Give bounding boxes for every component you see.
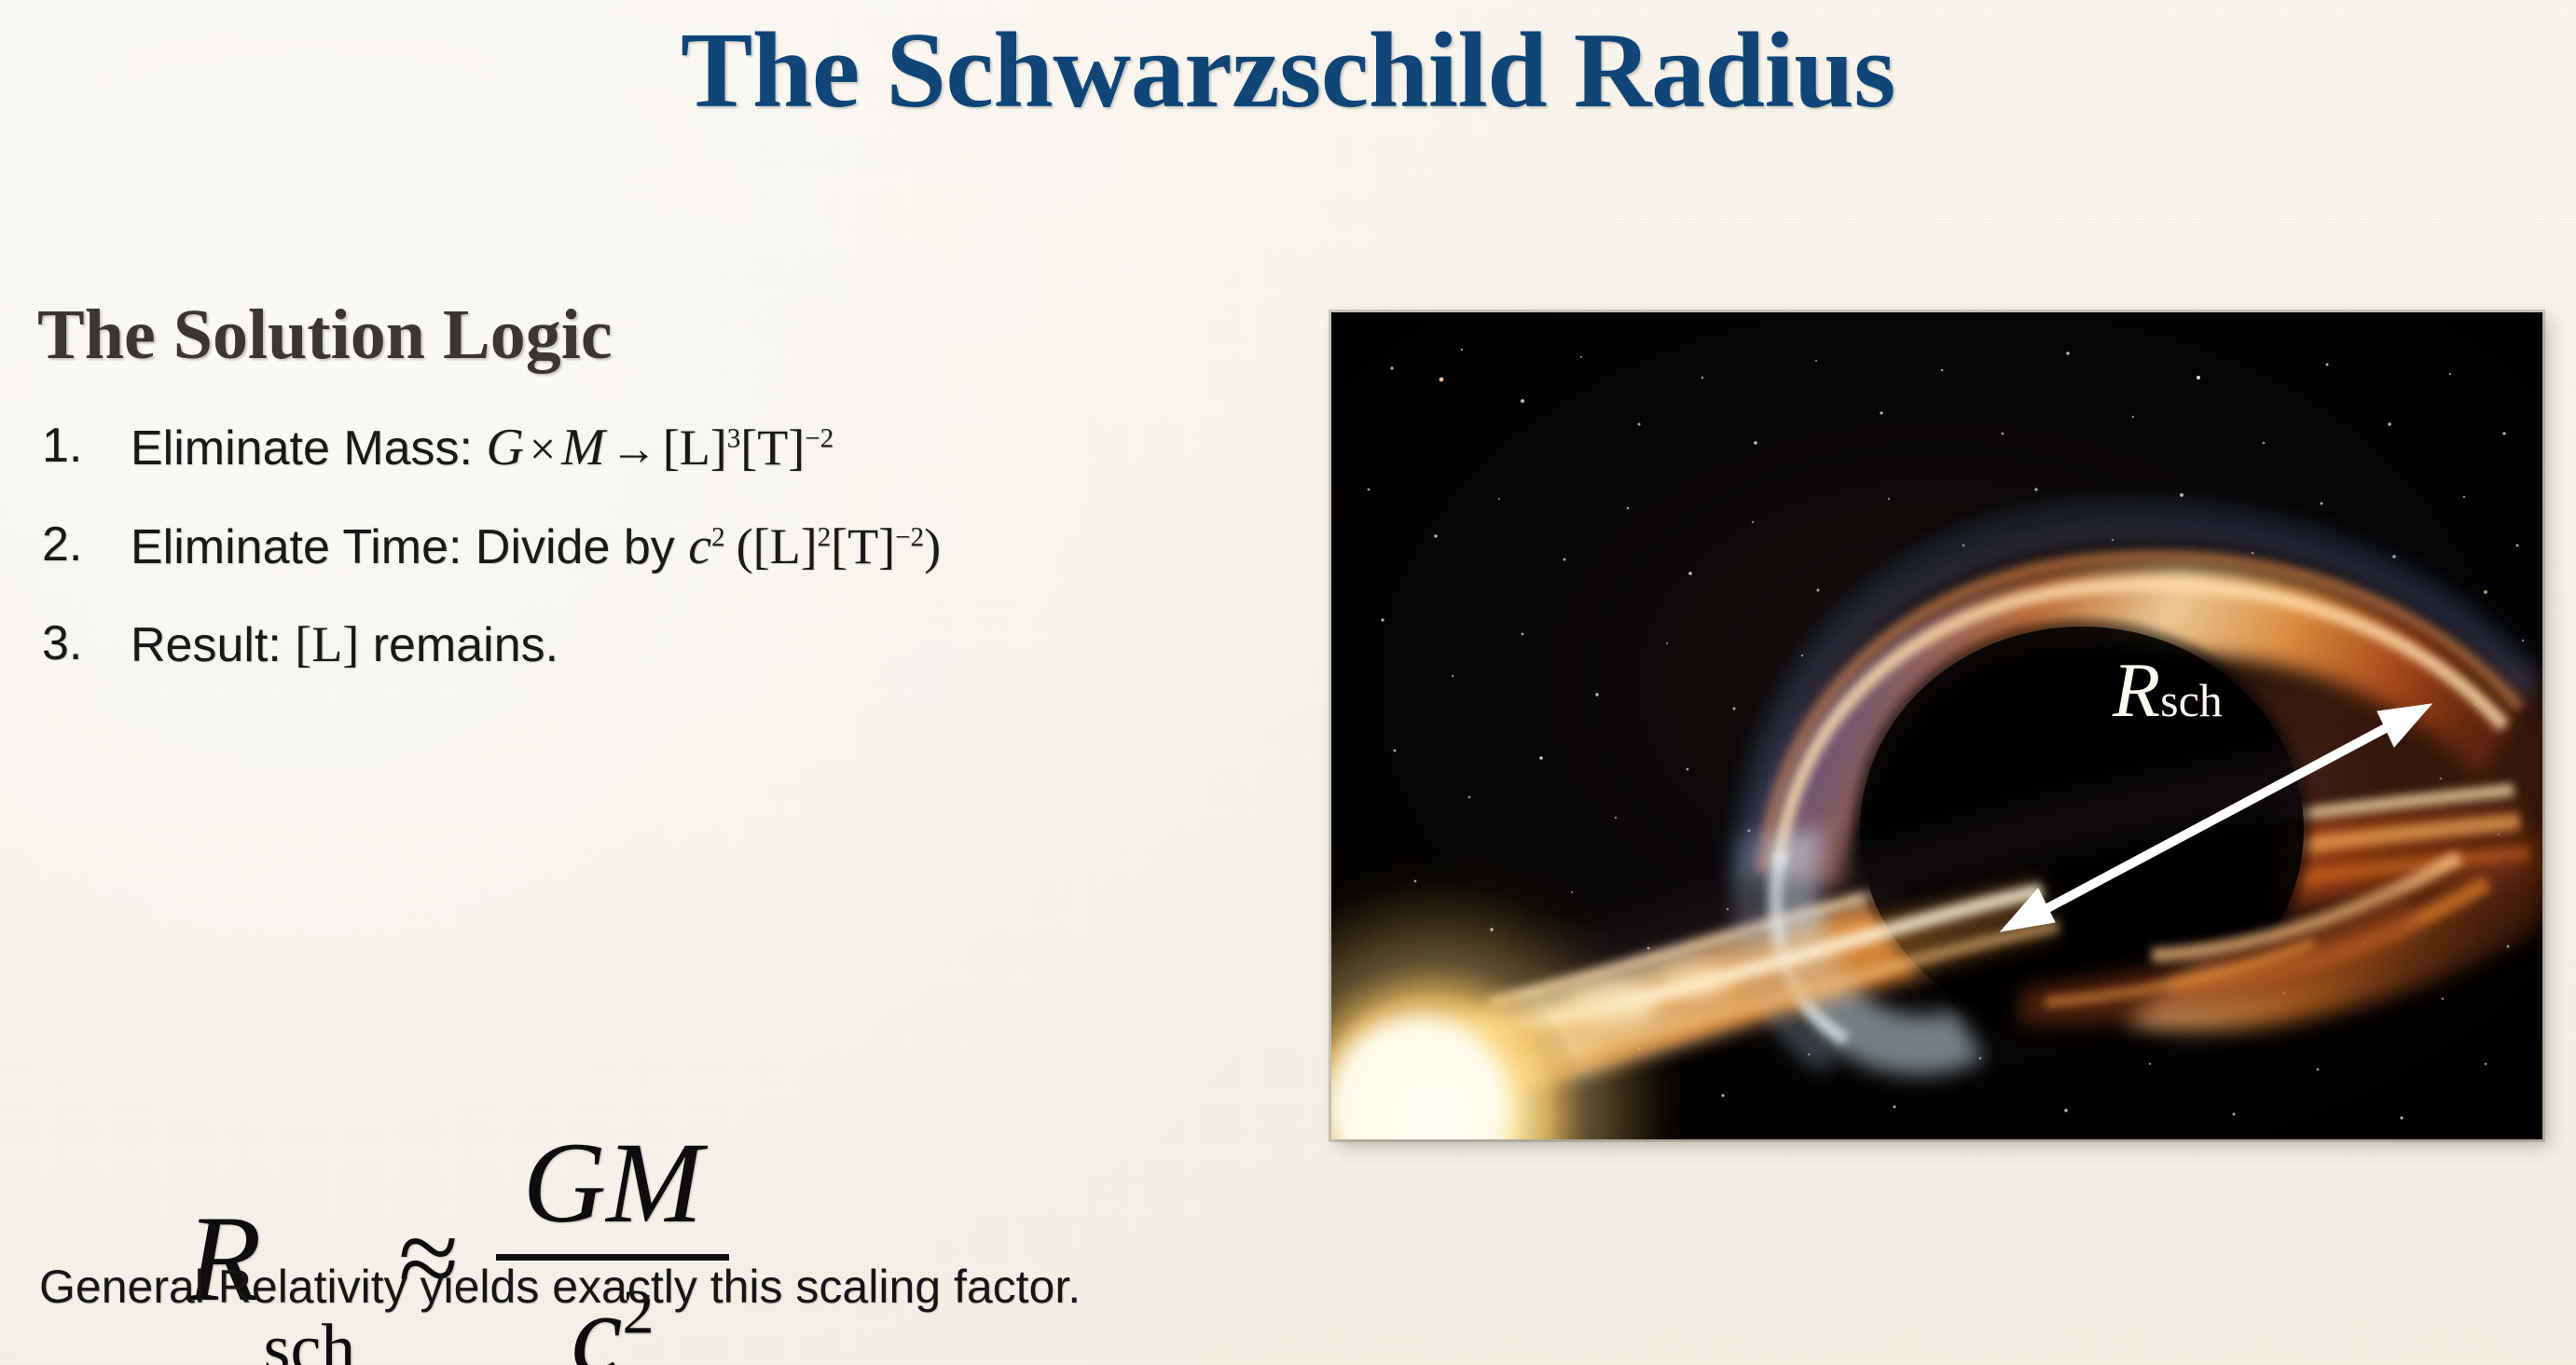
formula-numerator: GM	[514, 1123, 712, 1253]
steps-list: 1.Eliminate Mass: G×M→[L]3[T]−2 2.Elimin…	[37, 421, 1287, 669]
math-var-g: G	[486, 419, 523, 476]
math-var-c-exponent: 2	[711, 522, 725, 552]
list-item-number: 3.	[42, 619, 82, 668]
math-times-symbol: ×	[524, 422, 561, 475]
unit-time-exponent: −2	[895, 522, 924, 552]
list-item: 1.Eliminate Mass: G×M→[L]3[T]−2	[37, 421, 1287, 474]
left-content-column: The Solution Logic 1.Eliminate Mass: G×M…	[37, 298, 1287, 716]
section-heading: The Solution Logic	[37, 298, 1287, 373]
unit-length-exponent: 2	[818, 522, 832, 552]
page-title: The Schwarzschild Radius	[0, 7, 2576, 135]
formula-lhs-subscript: sch	[264, 1315, 356, 1365]
paren-close: )	[924, 518, 941, 574]
unit-length-exponent: 3	[727, 423, 741, 453]
list-item-text: Eliminate Time: Divide by	[131, 520, 688, 574]
paren-open: (	[725, 518, 753, 574]
unit-length: [L]	[295, 616, 359, 672]
list-item: 3.Result: [L] remains.	[37, 619, 1287, 669]
slide-canvas: The Schwarzschild Radius The Solution Lo…	[0, 0, 2576, 1365]
arrow-label-rsch: Rsch	[2113, 652, 2223, 730]
unit-time: [T]	[740, 420, 805, 476]
formula-fraction: GM c2	[496, 1123, 729, 1365]
list-item-text: Result:	[131, 618, 295, 672]
arrow-label-variable: R	[2113, 647, 2160, 734]
formula-fraction-bar	[496, 1254, 729, 1261]
unit-length: [L]	[663, 420, 727, 476]
unit-length: [L]	[753, 518, 818, 574]
list-item-suffix: remains.	[359, 618, 558, 672]
schwarzschild-radius-formula: Rsch ≈ GM c2	[186, 1119, 1212, 1365]
math-var-m: M	[561, 419, 605, 476]
black-hole-figure: Rsch	[1331, 312, 2542, 1139]
arrow-label-subscript: sch	[2160, 674, 2223, 726]
list-item: 2.Eliminate Time: Divide by c2([L]2[T]−2…	[37, 520, 1287, 572]
footnote-caption: General Relativity yields exactly this s…	[39, 1262, 1081, 1313]
unit-time: [T]	[831, 518, 895, 574]
list-item-number: 2.	[42, 520, 82, 569]
math-var-c: c	[688, 517, 711, 575]
black-hole-illustration	[1331, 312, 2542, 1139]
list-item-number: 1.	[42, 421, 82, 470]
unit-time-exponent: −2	[805, 423, 833, 453]
list-item-text: Eliminate Mass:	[131, 421, 486, 476]
math-arrow-symbol: →	[605, 422, 663, 475]
